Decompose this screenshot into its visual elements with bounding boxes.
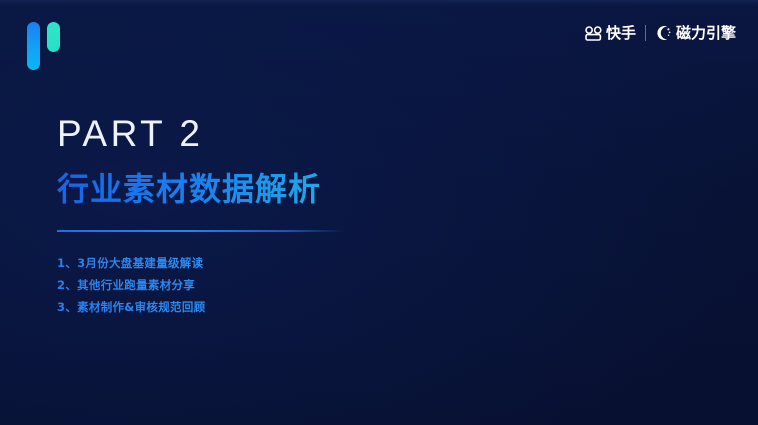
kuaishou-label: 快手 <box>606 26 636 41</box>
agenda-list: 1、3月份大盘基建量级解读 2、其他行业跑量素材分享 3、素材制作&审核规范回顾 <box>57 252 477 318</box>
section-title: 行业素材数据解析 <box>57 170 477 208</box>
list-item: 3、素材制作&审核规范回顾 <box>57 296 477 318</box>
magnetic-engine-crescent-icon <box>655 25 672 41</box>
magnetic-engine-label: 磁力引擎 <box>676 26 736 41</box>
magnetic-engine-logo: 磁力引擎 <box>655 25 736 41</box>
list-item: 2、其他行业跑量素材分享 <box>57 274 477 296</box>
presentation-slide: 快手 磁力引擎 PART 2 行业素材数据解析 1、3月份大盘基建量级解读 2、… <box>0 0 758 425</box>
logo-bar-blue <box>27 22 40 70</box>
part-label: PART 2 <box>57 112 477 156</box>
slide-content: PART 2 行业素材数据解析 1、3月份大盘基建量级解读 2、其他行业跑量素材… <box>57 112 477 318</box>
cobrand-lockup: 快手 磁力引擎 <box>585 22 736 44</box>
cobrand-divider <box>645 25 646 41</box>
top-edge-band <box>0 0 758 6</box>
logo-bar-teal <box>47 22 60 52</box>
kuaishou-reel-icon <box>585 26 602 41</box>
kuaishou-logo: 快手 <box>585 26 636 41</box>
title-divider-rule <box>57 230 345 232</box>
list-item: 1、3月份大盘基建量级解读 <box>57 252 477 274</box>
brand-mark-logo <box>27 22 61 70</box>
